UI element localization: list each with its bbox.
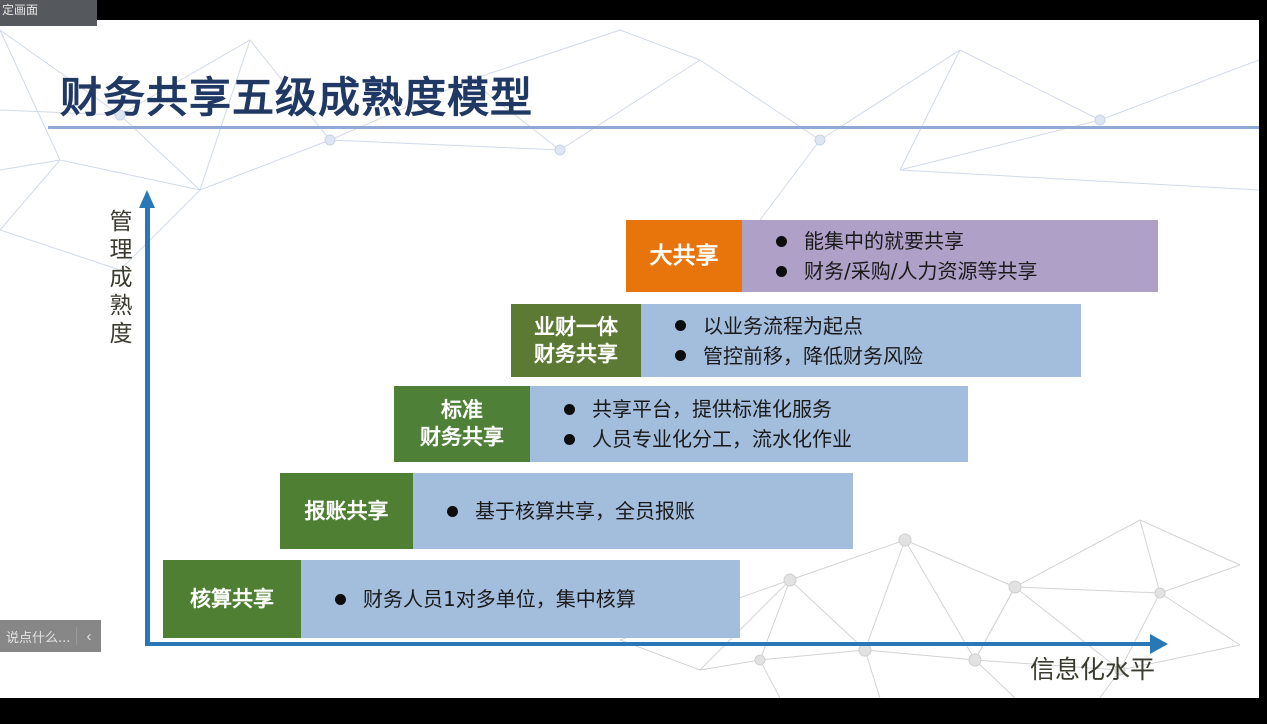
bullet-item: 财务/采购/人力资源等共享	[776, 256, 1158, 286]
bullet-item: 共享平台，提供标准化服务	[564, 394, 968, 424]
maturity-step-4-label: 业财一体 财务共享	[511, 304, 641, 377]
chat-message-input[interactable]: 说点什么...	[0, 627, 76, 646]
maturity-step-1-label: 核算共享	[163, 560, 301, 638]
bullet-item: 管控前移，降低财务风险	[675, 341, 1081, 371]
maturity-step-5-label: 大共享	[626, 220, 742, 292]
bullet-text: 能集中的就要共享	[804, 226, 964, 256]
maturity-step-5: 大共享 能集中的就要共享 财务/采购/人力资源等共享	[626, 220, 1158, 292]
bullet-dot-icon	[675, 350, 686, 361]
bullet-dot-icon	[776, 266, 787, 277]
y-axis-line	[145, 206, 150, 646]
x-axis-label: 信息化水平	[1030, 650, 1155, 686]
y-axis-label: 管理成熟度	[104, 208, 138, 348]
maturity-step-3-label: 标准 财务共享	[394, 386, 530, 462]
slide-title: 财务共享五级成熟度模型	[60, 64, 533, 125]
screen-share-title-label: 定画面	[0, 0, 97, 26]
bullet-dot-icon	[675, 320, 686, 331]
chat-collapse-chevron-icon[interactable]: ‹	[77, 628, 101, 645]
maturity-step-3-body: 共享平台，提供标准化服务 人员专业化分工，流水化作业	[530, 386, 968, 462]
bullet-dot-icon	[564, 404, 575, 415]
bullet-text: 人员专业化分工，流水化作业	[592, 424, 852, 454]
maturity-step-5-body: 能集中的就要共享 财务/采购/人力资源等共享	[742, 220, 1158, 292]
bullet-item: 财务人员1对多单位，集中核算	[335, 584, 740, 614]
maturity-step-4-body: 以业务流程为起点 管控前移，降低财务风险	[641, 304, 1081, 377]
screen-share-top-bar	[0, 0, 1267, 20]
screen-share-viewport: 财务共享五级成熟度模型 管理成熟度 信息化水平 核算共享 财务人员1对多单位，集…	[0, 0, 1267, 724]
maturity-step-2-label: 报账共享	[280, 473, 413, 549]
bullet-item: 能集中的就要共享	[776, 226, 1158, 256]
bullet-text: 以业务流程为起点	[703, 311, 863, 341]
screen-share-right-letterbox	[1259, 0, 1267, 724]
presentation-slide: 财务共享五级成熟度模型 管理成熟度 信息化水平 核算共享 财务人员1对多单位，集…	[0, 20, 1259, 698]
maturity-step-3: 标准 财务共享 共享平台，提供标准化服务 人员专业化分工，流水化作业	[394, 386, 968, 462]
maturity-step-4: 业财一体 财务共享 以业务流程为起点 管控前移，降低财务风险	[511, 304, 1081, 377]
chat-input-bar[interactable]: 说点什么... ‹	[0, 620, 101, 652]
x-axis-line	[145, 642, 1155, 646]
bullet-item: 以业务流程为起点	[675, 311, 1081, 341]
bullet-text: 财务人员1对多单位，集中核算	[363, 584, 636, 614]
title-underline-rule	[48, 126, 1259, 129]
maturity-step-4-label-line1: 业财一体	[534, 314, 618, 341]
bullet-text: 财务/采购/人力资源等共享	[804, 256, 1037, 286]
bullet-item: 人员专业化分工，流水化作业	[564, 424, 968, 454]
maturity-step-3-label-line2: 财务共享	[420, 424, 504, 451]
maturity-step-1: 核算共享 财务人员1对多单位，集中核算	[163, 560, 740, 638]
bullet-dot-icon	[564, 434, 575, 445]
maturity-step-2-body: 基于核算共享，全员报账	[413, 473, 853, 549]
bullet-text: 管控前移，降低财务风险	[703, 341, 923, 371]
bullet-dot-icon	[335, 594, 346, 605]
bullet-dot-icon	[776, 236, 787, 247]
maturity-step-4-label-line2: 财务共享	[534, 341, 618, 368]
bullet-text: 基于核算共享，全员报账	[475, 496, 695, 526]
maturity-step-1-body: 财务人员1对多单位，集中核算	[301, 560, 740, 638]
maturity-step-3-label-line1: 标准	[441, 397, 483, 424]
bullet-item: 基于核算共享，全员报账	[447, 496, 853, 526]
maturity-step-2: 报账共享 基于核算共享，全员报账	[280, 473, 853, 549]
bullet-text: 共享平台，提供标准化服务	[592, 394, 832, 424]
bullet-dot-icon	[447, 506, 458, 517]
